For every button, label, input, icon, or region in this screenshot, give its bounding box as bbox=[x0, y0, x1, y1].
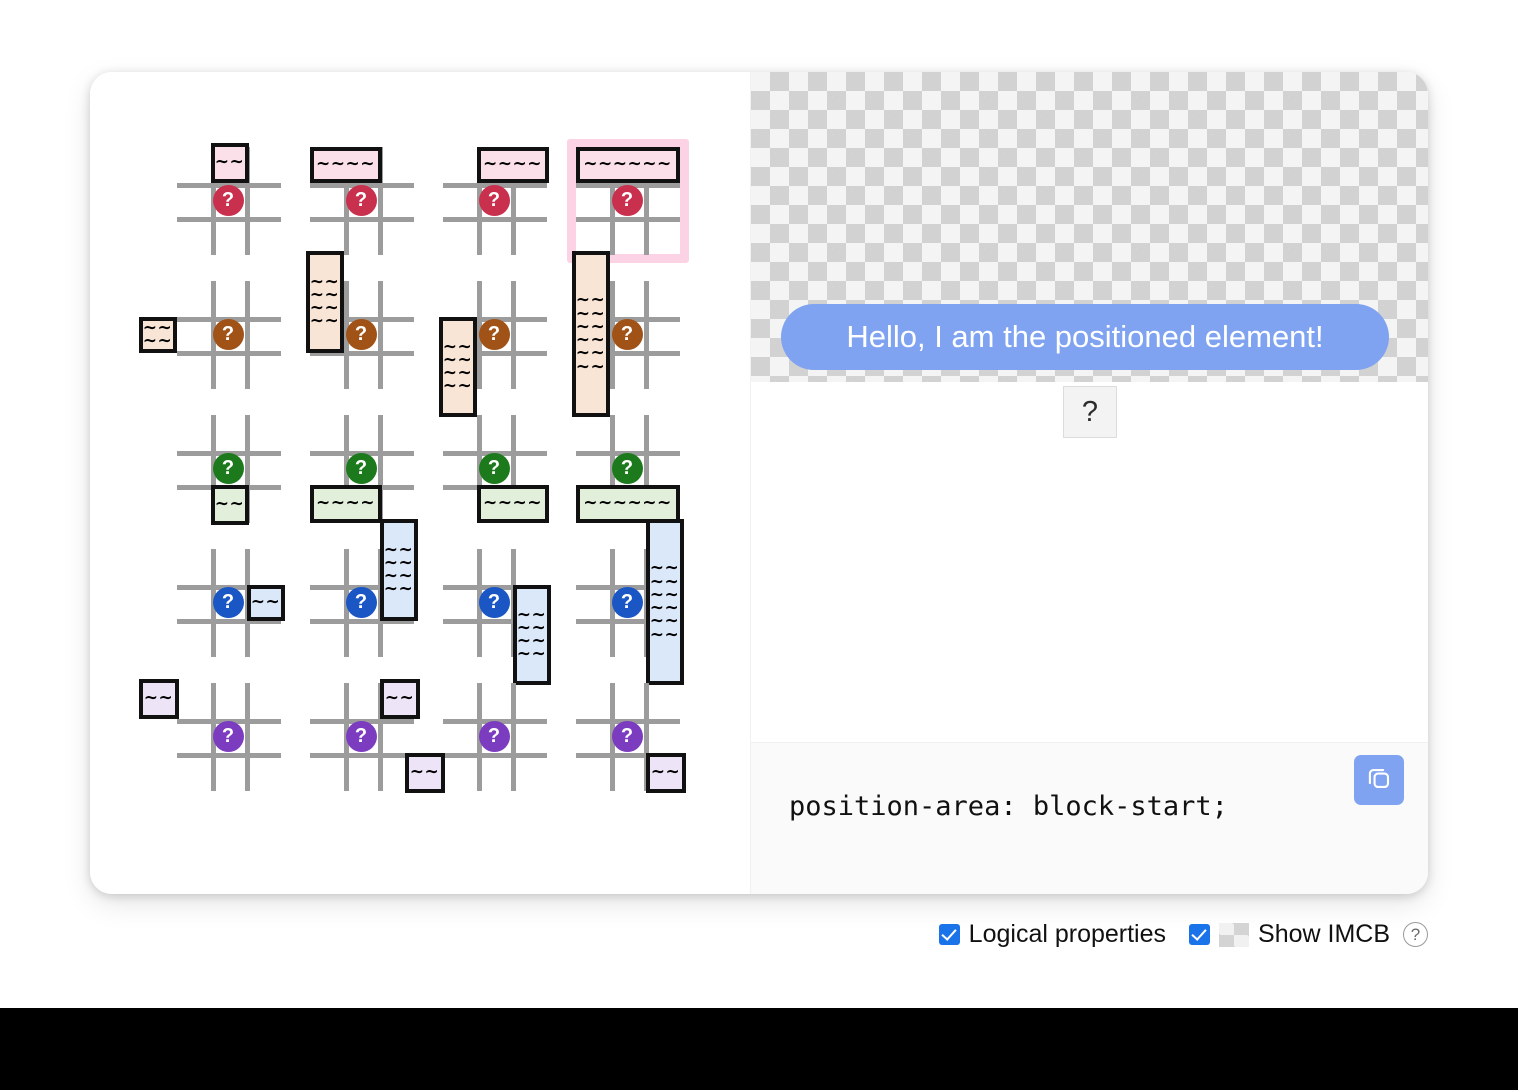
anchor-element-box[interactable]: ? bbox=[1063, 386, 1117, 438]
squiggle-glyph: ∼∼∼∼ bbox=[316, 497, 375, 510]
grid-sketch: ∼∼∼∼∼∼? bbox=[576, 147, 680, 255]
position-area-option-inline-end-row-3[interactable]: ∼∼∼∼∼∼∼∼? bbox=[428, 536, 561, 670]
grid-sketch: ∼∼? bbox=[310, 683, 414, 791]
position-area-option-corner-row-4[interactable]: ∼∼? bbox=[561, 670, 694, 804]
grid-line-horizontal bbox=[310, 753, 414, 758]
position-area-picker-pane: ∼∼?∼∼∼∼?∼∼∼∼?∼∼∼∼∼∼?∼∼∼∼?∼∼∼∼∼∼∼∼?∼∼∼∼∼∼… bbox=[90, 72, 750, 894]
anchor-badge-icon: ? bbox=[612, 185, 643, 216]
position-area-option-inline-start-row-1[interactable]: ∼∼∼∼? bbox=[162, 268, 295, 402]
anchor-badge-icon: ? bbox=[346, 453, 377, 484]
position-area-option-block-start-row-1[interactable]: ∼∼? bbox=[162, 134, 295, 268]
grid-line-vertical bbox=[644, 281, 649, 389]
squiggle-glyph: ∼∼∼∼ bbox=[483, 497, 542, 510]
position-area-option-corner-row-1[interactable]: ∼∼? bbox=[162, 670, 295, 804]
position-area-option-inline-start-row-4[interactable]: ∼∼∼∼∼∼∼∼∼∼∼∼? bbox=[561, 268, 694, 402]
element-preview-box: ∼∼∼∼ bbox=[310, 485, 382, 523]
squiggle-glyph: ∼∼ bbox=[651, 766, 681, 779]
squiggle-glyph: ∼∼∼∼ bbox=[483, 158, 542, 171]
position-area-option-inline-start-row-3[interactable]: ∼∼∼∼∼∼∼∼? bbox=[428, 268, 561, 402]
code-output-panel: position-area: block-start; bbox=[751, 742, 1428, 894]
position-area-option-block-end-row-1[interactable]: ∼∼? bbox=[162, 402, 295, 536]
anchor-badge-icon: ? bbox=[213, 185, 244, 216]
anchor-badge-icon: ? bbox=[479, 587, 510, 618]
grid-line-horizontal bbox=[576, 217, 680, 222]
grid-sketch: ∼∼∼∼? bbox=[310, 415, 414, 523]
grid-sketch: ∼∼∼∼∼∼∼∼∼∼∼∼? bbox=[576, 281, 680, 389]
bottom-letterbox bbox=[0, 1008, 1518, 1090]
copy-icon bbox=[1365, 764, 1393, 797]
squiggle-glyph: ∼∼ bbox=[576, 361, 606, 374]
grid-sketch: ∼∼∼∼∼∼∼∼? bbox=[310, 281, 414, 389]
squiggle-glyph: ∼∼ bbox=[384, 583, 414, 596]
copy-code-button[interactable] bbox=[1354, 755, 1404, 805]
anchor-badge-icon: ? bbox=[213, 587, 244, 618]
squiggle-glyph: ∼∼ bbox=[215, 156, 245, 169]
grid-sketch: ∼∼∼∼∼∼∼∼∼∼∼∼? bbox=[576, 549, 680, 657]
position-area-option-block-end-row-2[interactable]: ∼∼∼∼? bbox=[295, 402, 428, 536]
squiggle-glyph: ∼∼ bbox=[650, 629, 680, 642]
squiggle-glyph: ∼∼ bbox=[310, 315, 340, 328]
element-preview-box: ∼∼ bbox=[211, 485, 249, 525]
element-preview-box: ∼∼∼∼ bbox=[139, 317, 177, 353]
app-root: ∼∼?∼∼∼∼?∼∼∼∼?∼∼∼∼∼∼?∼∼∼∼?∼∼∼∼∼∼∼∼?∼∼∼∼∼∼… bbox=[0, 0, 1518, 1090]
position-area-option-inline-end-row-4[interactable]: ∼∼∼∼∼∼∼∼∼∼∼∼? bbox=[561, 536, 694, 670]
grid-sketch: ∼∼∼∼? bbox=[443, 415, 547, 523]
anchor-badge-icon: ? bbox=[612, 721, 643, 752]
position-area-option-block-start-row-3[interactable]: ∼∼∼∼? bbox=[428, 134, 561, 268]
squiggle-glyph: ∼∼ bbox=[251, 596, 281, 609]
grid-sketch: ∼∼∼∼? bbox=[310, 147, 414, 255]
grid-sketch: ∼∼? bbox=[177, 549, 281, 657]
grid-sketch: ∼∼∼∼? bbox=[443, 147, 547, 255]
anchor-badge-icon: ? bbox=[479, 319, 510, 350]
grid-sketch: ∼∼? bbox=[443, 683, 547, 791]
position-area-option-inline-end-row-2[interactable]: ∼∼∼∼∼∼∼∼? bbox=[295, 536, 428, 670]
grid-line-horizontal bbox=[443, 753, 547, 758]
position-area-matrix[interactable]: ∼∼?∼∼∼∼?∼∼∼∼?∼∼∼∼∼∼?∼∼∼∼?∼∼∼∼∼∼∼∼?∼∼∼∼∼∼… bbox=[162, 134, 694, 804]
anchor-badge-icon: ? bbox=[346, 319, 377, 350]
grid-line-vertical bbox=[245, 683, 250, 791]
element-preview-box: ∼∼∼∼∼∼ bbox=[576, 147, 680, 183]
anchor-badge-icon: ? bbox=[612, 453, 643, 484]
position-area-option-inline-start-row-2[interactable]: ∼∼∼∼∼∼∼∼? bbox=[295, 268, 428, 402]
logical-properties-label[interactable]: Logical properties bbox=[969, 922, 1166, 947]
grid-sketch: ∼∼? bbox=[177, 415, 281, 523]
element-preview-box: ∼∼∼∼∼∼∼∼∼∼∼∼ bbox=[646, 519, 684, 685]
anchor-badge-icon: ? bbox=[612, 319, 643, 350]
grid-line-horizontal bbox=[310, 217, 414, 222]
anchor-badge-icon: ? bbox=[346, 587, 377, 618]
anchor-badge-icon: ? bbox=[213, 453, 244, 484]
squiggle-glyph: ∼∼ bbox=[144, 692, 174, 705]
anchor-badge-icon: ? bbox=[479, 721, 510, 752]
element-preview-box: ∼∼∼∼ bbox=[477, 147, 549, 183]
grid-sketch: ∼∼? bbox=[177, 683, 281, 791]
element-preview-box: ∼∼ bbox=[211, 143, 249, 183]
element-preview-box: ∼∼∼∼ bbox=[477, 485, 549, 523]
position-area-option-inline-end-row-1[interactable]: ∼∼? bbox=[162, 536, 295, 670]
position-area-option-block-start-row-4[interactable]: ∼∼∼∼∼∼? bbox=[561, 134, 694, 268]
position-area-option-block-start-row-2[interactable]: ∼∼∼∼? bbox=[295, 134, 428, 268]
anchor-badge-icon: ? bbox=[213, 319, 244, 350]
grid-line-vertical bbox=[511, 683, 516, 791]
grid-line-vertical bbox=[378, 281, 383, 389]
show-imcb-checkbox[interactable] bbox=[1189, 924, 1210, 945]
show-imcb-control[interactable]: Show IMCB bbox=[1189, 922, 1390, 947]
element-preview-box: ∼∼ bbox=[646, 753, 686, 793]
anchor-badge-icon: ? bbox=[479, 453, 510, 484]
grid-sketch: ∼∼∼∼∼∼? bbox=[576, 415, 680, 523]
grid-sketch: ∼∼∼∼∼∼∼∼? bbox=[443, 281, 547, 389]
element-preview-box: ∼∼ bbox=[380, 679, 420, 719]
element-preview-box: ∼∼ bbox=[139, 679, 179, 719]
grid-sketch: ∼∼? bbox=[177, 147, 281, 255]
element-preview-box: ∼∼∼∼∼∼∼∼ bbox=[306, 251, 344, 353]
element-preview-box: ∼∼ bbox=[405, 753, 445, 793]
show-imcb-label[interactable]: Show IMCB bbox=[1258, 922, 1390, 947]
anchor-badge-icon: ? bbox=[346, 185, 377, 216]
code-snippet: position-area: block-start; bbox=[789, 791, 1228, 822]
checkerboard-swatch-icon bbox=[1219, 923, 1249, 947]
squiggle-glyph: ∼∼ bbox=[517, 648, 547, 661]
anchor-badge-icon: ? bbox=[479, 185, 510, 216]
anchor-badge-icon: ? bbox=[346, 721, 377, 752]
grid-sketch: ∼∼? bbox=[576, 683, 680, 791]
anchor-badge-icon: ? bbox=[612, 587, 643, 618]
squiggle-glyph: ∼∼∼∼ bbox=[316, 158, 375, 171]
logical-properties-checkbox[interactable] bbox=[939, 924, 960, 945]
grid-sketch: ∼∼∼∼∼∼∼∼? bbox=[443, 549, 547, 657]
preview-pane: Hello, I am the positioned element! ? po… bbox=[750, 72, 1428, 894]
positioned-element-bubble: Hello, I am the positioned element! bbox=[781, 304, 1389, 370]
help-icon[interactable]: ? bbox=[1403, 922, 1428, 947]
element-preview-box: ∼∼∼∼∼∼∼∼∼∼∼∼ bbox=[572, 251, 610, 417]
position-area-option-block-end-row-3[interactable]: ∼∼∼∼? bbox=[428, 402, 561, 536]
options-bar: Logical properties Show IMCB ? bbox=[0, 922, 1428, 947]
squiggle-glyph: ∼∼ bbox=[410, 766, 440, 779]
logical-properties-control[interactable]: Logical properties bbox=[939, 922, 1166, 947]
grid-sketch: ∼∼∼∼∼∼∼∼? bbox=[310, 549, 414, 657]
squiggle-glyph: ∼∼ bbox=[385, 692, 415, 705]
grid-line-horizontal bbox=[177, 753, 281, 758]
squiggle-glyph: ∼∼ bbox=[143, 335, 173, 348]
grid-sketch: ∼∼∼∼? bbox=[177, 281, 281, 389]
squiggle-glyph: ∼∼∼∼∼∼ bbox=[583, 158, 671, 171]
grid-line-horizontal bbox=[443, 217, 547, 222]
grid-line-horizontal bbox=[177, 351, 281, 356]
demo-card: ∼∼?∼∼∼∼?∼∼∼∼?∼∼∼∼∼∼?∼∼∼∼?∼∼∼∼∼∼∼∼?∼∼∼∼∼∼… bbox=[90, 72, 1428, 894]
squiggle-glyph: ∼∼∼∼∼∼ bbox=[583, 497, 671, 510]
grid-line-vertical bbox=[245, 281, 250, 389]
element-preview-box: ∼∼∼∼∼∼∼∼ bbox=[380, 519, 418, 621]
element-preview-box: ∼∼ bbox=[247, 585, 285, 621]
position-area-option-corner-row-3[interactable]: ∼∼? bbox=[428, 670, 561, 804]
anchor-badge-icon: ? bbox=[213, 721, 244, 752]
squiggle-glyph: ∼∼ bbox=[215, 498, 245, 511]
grid-line-horizontal bbox=[177, 217, 281, 222]
grid-line-vertical bbox=[511, 281, 516, 389]
element-preview-box: ∼∼∼∼∼∼ bbox=[576, 485, 680, 523]
squiggle-glyph: ∼∼ bbox=[443, 380, 473, 393]
element-preview-box: ∼∼∼∼ bbox=[310, 147, 382, 183]
position-area-option-block-end-row-4[interactable]: ∼∼∼∼∼∼? bbox=[561, 402, 694, 536]
